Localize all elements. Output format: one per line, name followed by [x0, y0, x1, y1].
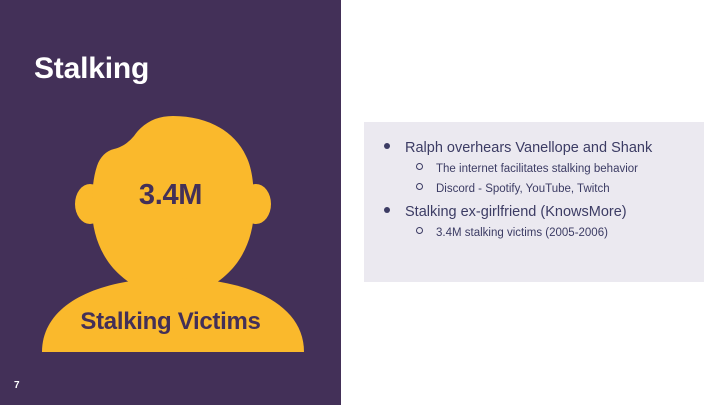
list-item-label: 3.4M stalking victims (2005-2006) [436, 225, 694, 242]
list-item-label: Discord - Spotify, YouTube, Twitch [436, 181, 694, 198]
filled-dot-icon [384, 143, 390, 149]
list-item-label: Ralph overhears Vanellope and Shank [405, 138, 694, 159]
list-item: The internet facilitates stalking behavi… [374, 161, 694, 178]
list-item: Ralph overhears Vanellope and Shank [374, 138, 694, 159]
list-item-label: Stalking ex-girlfriend (KnowsMore) [405, 202, 694, 223]
list-item-label: The internet facilitates stalking behavi… [436, 161, 694, 178]
presentation-slide: Stalking 3.4M Stalking Victims 7 R [0, 0, 720, 405]
list-item: Stalking ex-girlfriend (KnowsMore) [374, 202, 694, 223]
list-item: Discord - Spotify, YouTube, Twitch [374, 181, 694, 198]
content-box: Ralph overhears Vanellope and Shank The … [364, 122, 704, 282]
stat-value: 3.4M [0, 181, 341, 210]
left-purple-panel: Stalking 3.4M Stalking Victims 7 [0, 0, 341, 405]
hollow-circle-icon [416, 163, 423, 170]
hollow-circle-icon [416, 183, 423, 190]
stat-label: Stalking Victims [0, 310, 341, 334]
page-number: 7 [14, 381, 20, 391]
list-item: 3.4M stalking victims (2005-2006) [374, 225, 694, 242]
page-title: Stalking [34, 54, 149, 84]
bullet-list: Ralph overhears Vanellope and Shank The … [374, 138, 694, 242]
filled-dot-icon [384, 207, 390, 213]
hollow-circle-icon [416, 227, 423, 234]
